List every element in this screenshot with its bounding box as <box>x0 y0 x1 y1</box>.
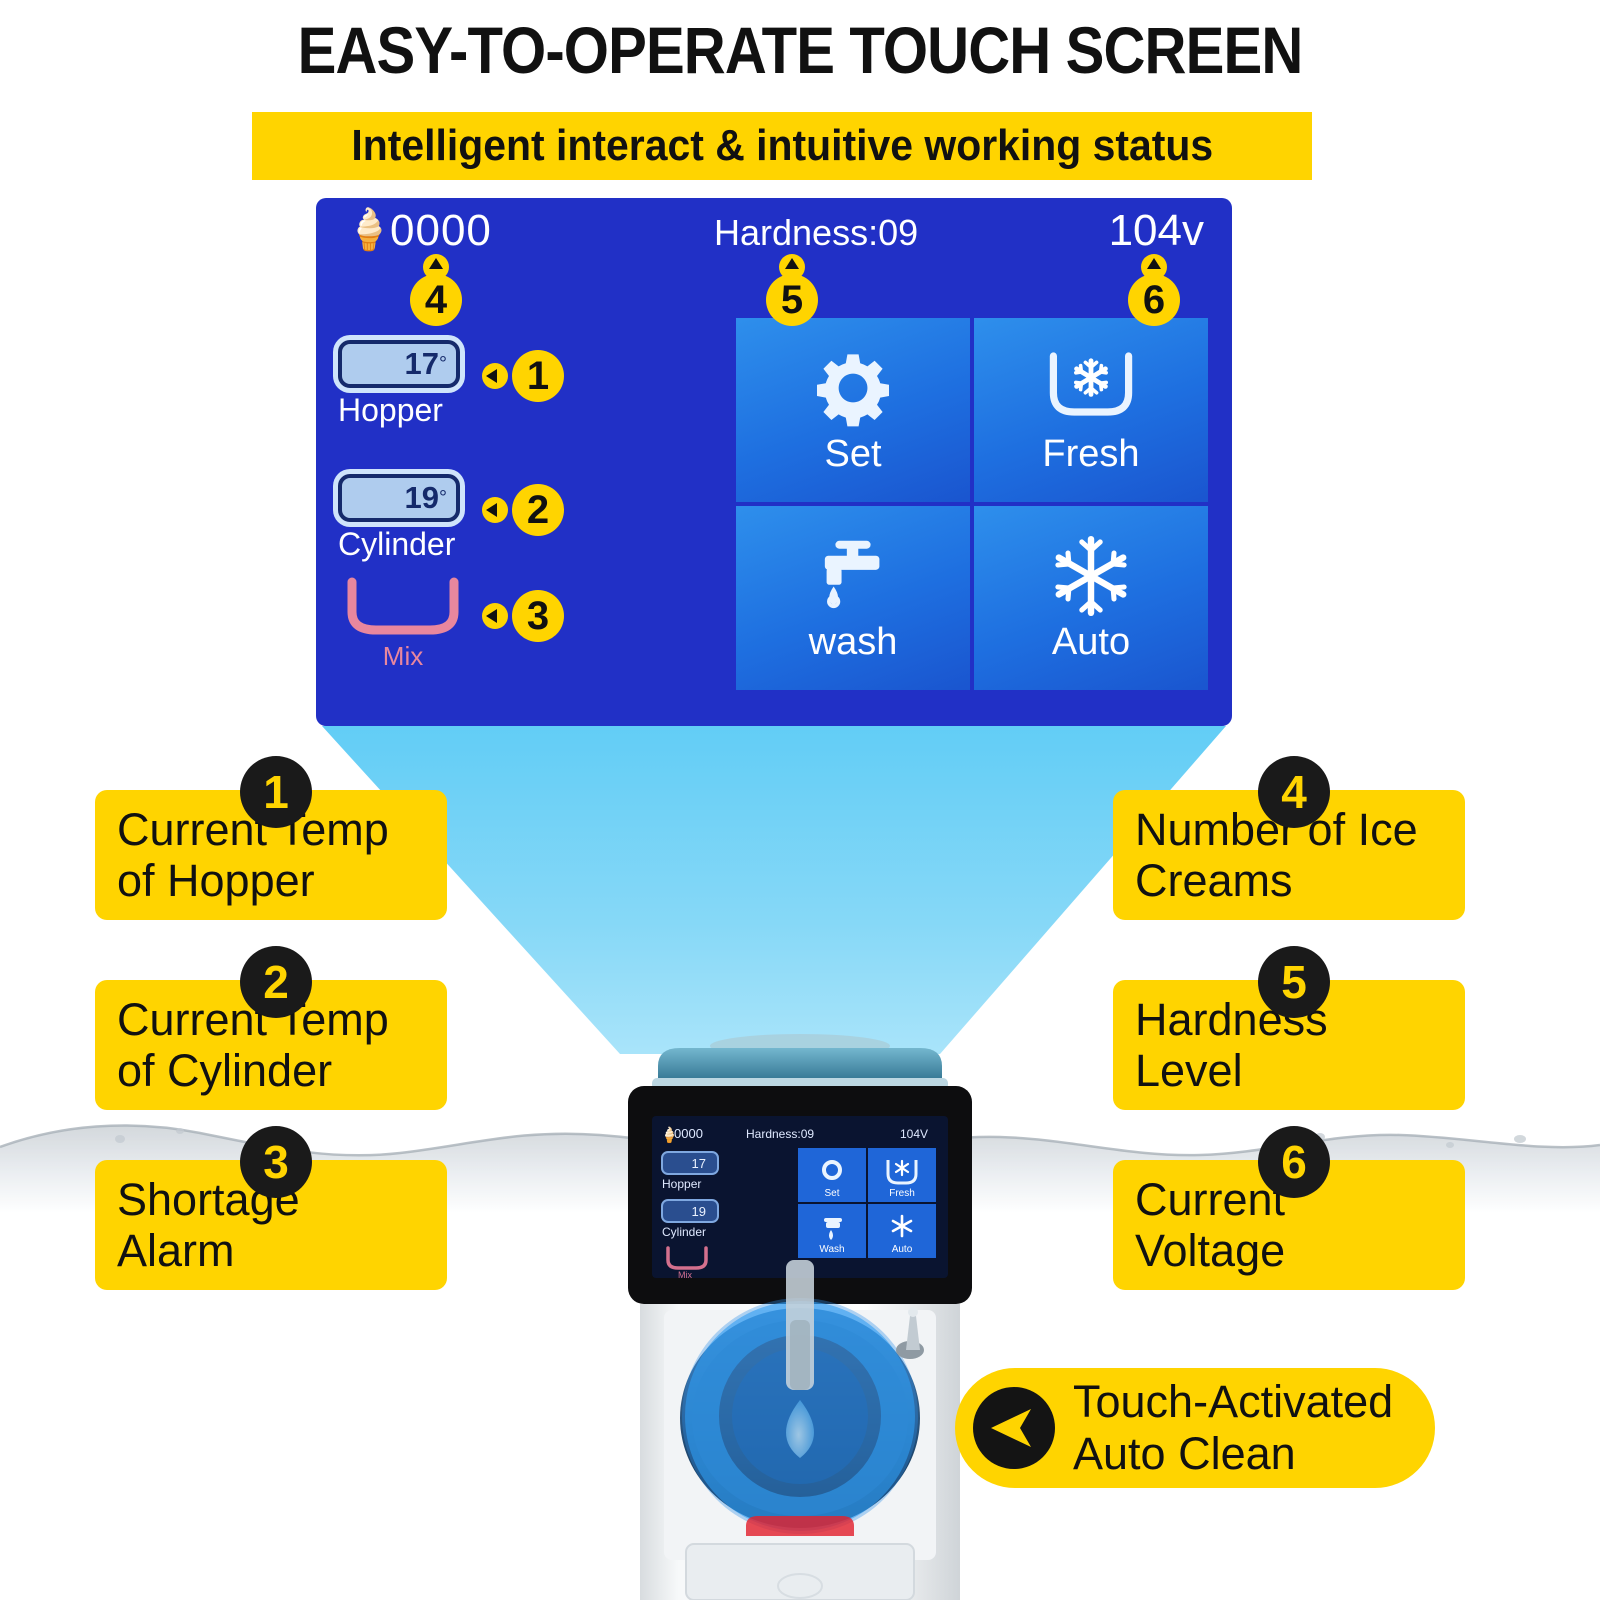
callout-3: 3 Shortage Alarm <box>95 1160 447 1290</box>
callout-1-line-2: of Hopper <box>117 855 425 906</box>
machine-voltage: 104V <box>900 1127 928 1141</box>
screen-marker-3: 3 <box>512 590 564 642</box>
ice-cream-cone-icon: 🍦 <box>344 208 394 252</box>
auto-clean-text: Touch-Activated Auto Clean <box>1073 1376 1393 1480</box>
callout-3-badge: 3 <box>240 1126 312 1198</box>
machine-cylinder-value: 19 <box>692 1204 706 1219</box>
screen-status-bar: 🍦 0000 Hardness:09 104v <box>316 198 1232 268</box>
auto-clean-line-2: Auto Clean <box>1073 1428 1393 1480</box>
callout-2-badge: 2 <box>240 946 312 1018</box>
screen-marker-6: 6 <box>1128 274 1180 326</box>
screen-marker-5: 5 <box>766 274 818 326</box>
page-title: EASY-TO-OPERATE TOUCH SCREEN <box>96 12 1504 88</box>
fresh-button[interactable]: Fresh <box>974 318 1208 502</box>
callout-4-badge: 4 <box>1258 756 1330 828</box>
auto-button-label: Auto <box>1052 621 1130 664</box>
callout-1-badge: 1 <box>240 756 312 828</box>
touchscreen-display[interactable]: 🍦 0000 Hardness:09 104v 4 5 6 17° Hopper… <box>316 198 1232 726</box>
machine-mix-label: Mix <box>678 1270 692 1280</box>
mix-label: Mix <box>338 641 468 672</box>
snowflake-icon <box>1045 533 1137 619</box>
hopper-readout: 17° Hopper <box>338 340 460 429</box>
wash-button[interactable]: wash <box>736 506 970 690</box>
machine-btn-fresh: Fresh <box>889 1188 915 1199</box>
machine-cone-icon: 🍦 <box>660 1126 679 1144</box>
callout-4: 4 Number of Ice Creams <box>1113 790 1465 920</box>
auto-button[interactable]: Auto <box>974 506 1208 690</box>
cylinder-degree-symbol: ° <box>439 489 447 507</box>
machine-hopper-label: Hopper <box>662 1177 701 1191</box>
faucet-drop-icon <box>808 533 898 619</box>
cylinder-readout: 19° Cylinder <box>338 474 460 563</box>
tub-snowflake-icon <box>1039 345 1143 431</box>
hardness-readout: Hardness:09 <box>714 212 918 254</box>
ice-cream-count: 0000 <box>390 206 492 256</box>
mix-tub-icon <box>338 576 468 638</box>
cursor-arrow-icon <box>973 1387 1055 1469</box>
function-button-grid: Set <box>736 318 1208 690</box>
callout-2: 2 Current Temp of Cylinder <box>95 980 447 1110</box>
set-button-label: Set <box>824 433 881 476</box>
machine-btn-wash: Wash <box>819 1244 844 1255</box>
machine-btn-auto: Auto <box>892 1244 913 1255</box>
screen-marker-4: 4 <box>410 274 462 326</box>
callout-4-line-2: Creams <box>1135 855 1443 906</box>
cylinder-temp-box: 19° <box>338 474 460 522</box>
hopper-temp-value: 17 <box>405 346 439 382</box>
fresh-button-label: Fresh <box>1042 433 1139 476</box>
hopper-label: Hopper <box>338 392 460 429</box>
set-button[interactable]: Set <box>736 318 970 502</box>
callout-6: 6 Current Voltage <box>1113 1160 1465 1290</box>
machine-hardness: Hardness:09 <box>746 1127 814 1141</box>
hopper-degree-symbol: ° <box>439 355 447 373</box>
screen-marker-1: 1 <box>512 350 564 402</box>
machine-hopper-value: 17 <box>692 1156 706 1171</box>
callout-5-badge: 5 <box>1258 946 1330 1018</box>
slush-machine-illustration: 0000 Hardness:09 104V 🍦 17 Hopper 19 Cyl… <box>600 1020 1000 1600</box>
gear-icon <box>813 345 893 431</box>
subtitle-banner: Intelligent interact & intuitive working… <box>252 112 1312 180</box>
cylinder-label: Cylinder <box>338 526 460 563</box>
auto-clean-badge: Touch-Activated Auto Clean <box>955 1368 1435 1488</box>
screen-marker-2: 2 <box>512 484 564 536</box>
machine-btn-set: Set <box>824 1188 839 1199</box>
callout-5: 5 Hardness Level <box>1113 980 1465 1110</box>
mix-indicator: Mix <box>338 576 468 672</box>
callout-1: 1 Current Temp of Hopper <box>95 790 447 920</box>
hopper-temp-box: 17° <box>338 340 460 388</box>
callout-2-line-2: of Cylinder <box>117 1045 425 1096</box>
cylinder-temp-value: 19 <box>405 480 439 516</box>
wash-button-label: wash <box>809 621 898 664</box>
subtitle-text: Intelligent interact & intuitive working… <box>351 121 1213 171</box>
machine-cylinder-label: Cylinder <box>662 1225 706 1239</box>
voltage-readout: 104v <box>1109 206 1204 256</box>
callout-6-badge: 6 <box>1258 1126 1330 1198</box>
auto-clean-line-1: Touch-Activated <box>1073 1376 1393 1428</box>
